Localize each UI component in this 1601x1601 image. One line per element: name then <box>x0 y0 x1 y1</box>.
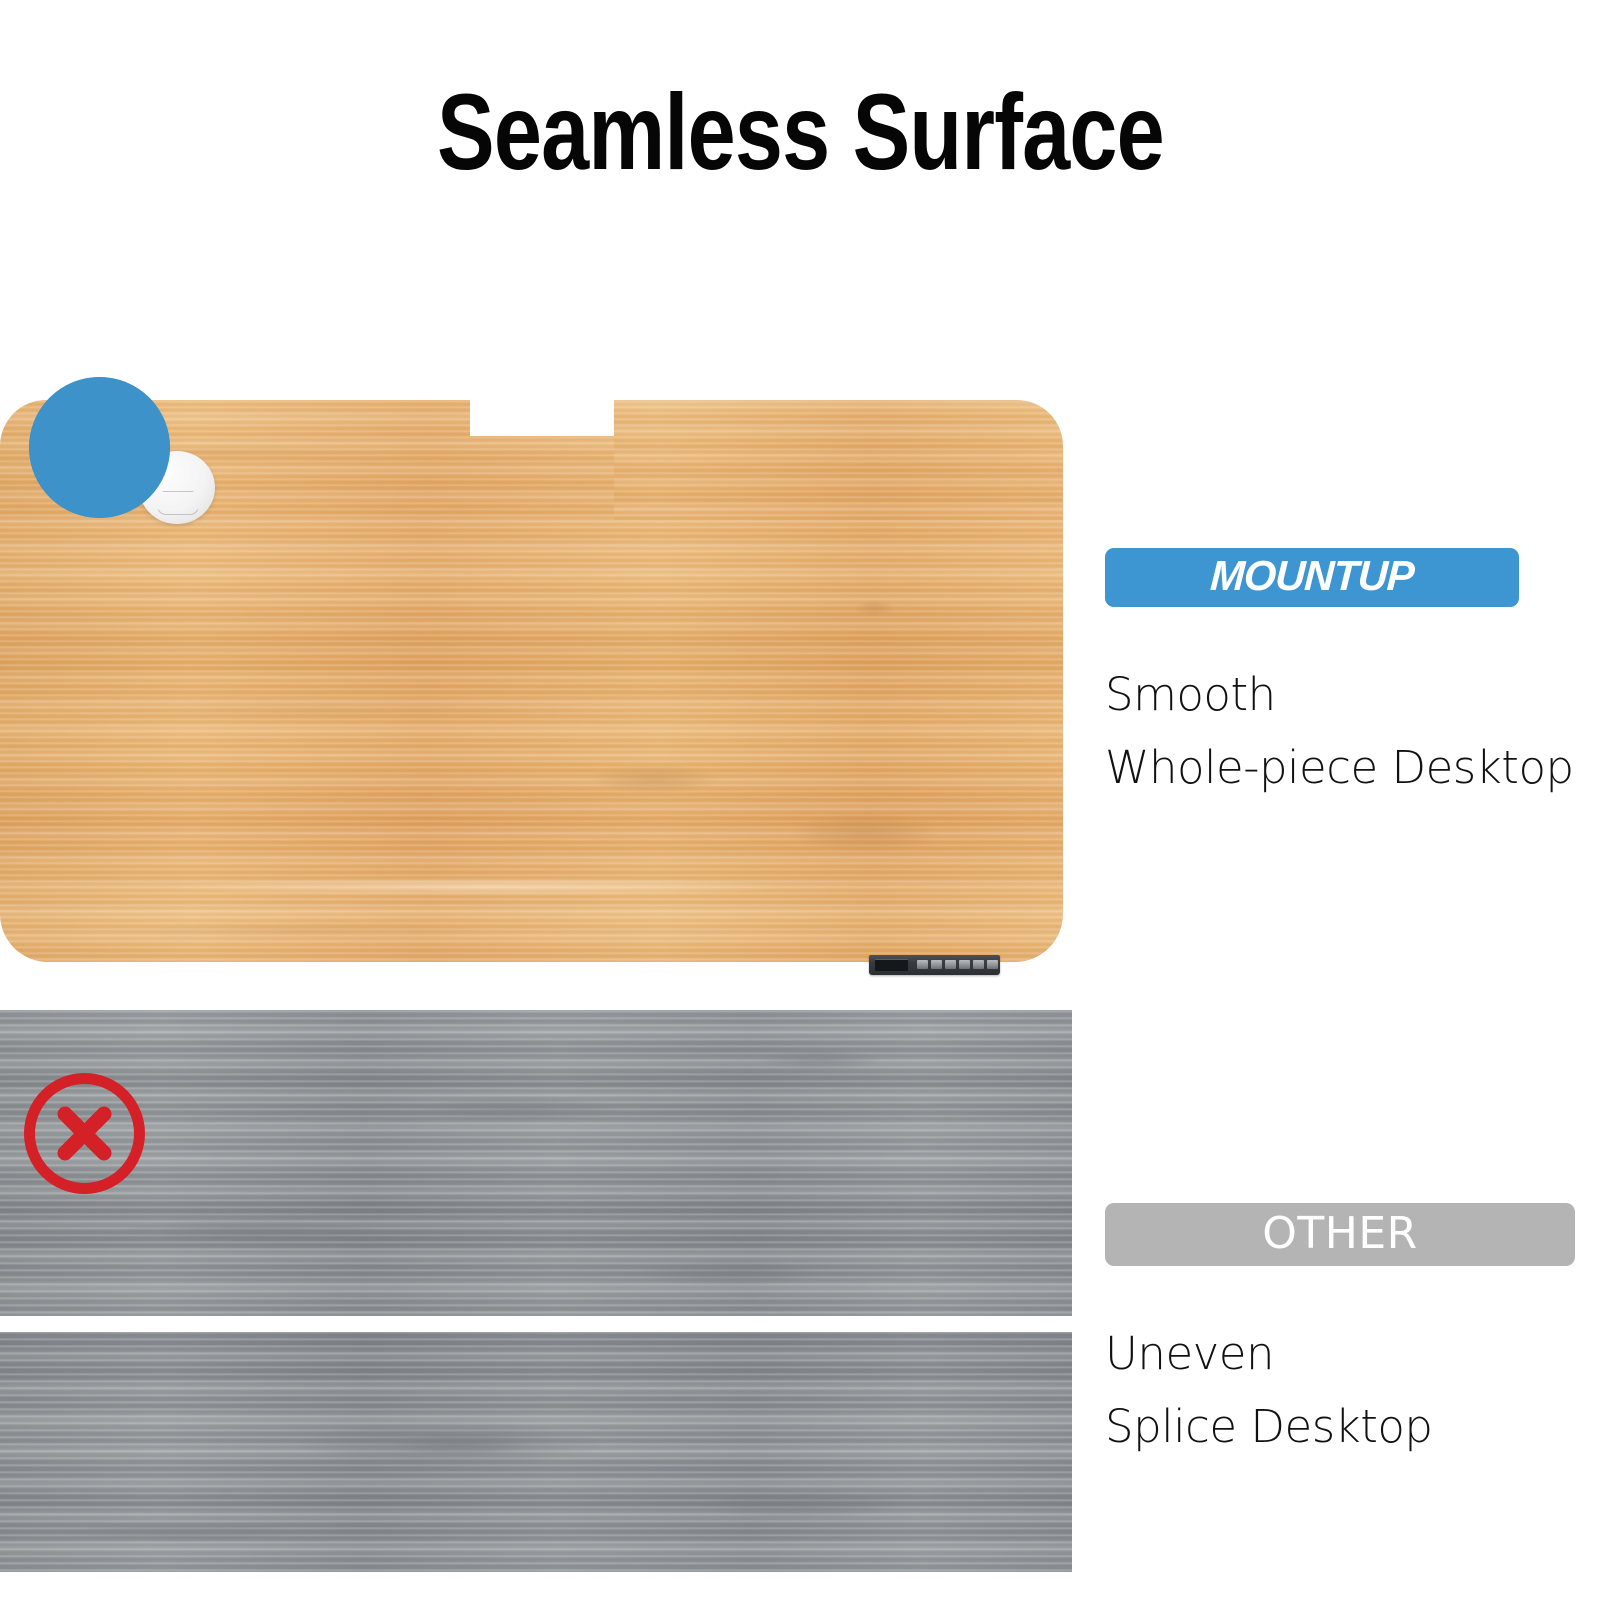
plank-upper <box>0 1010 1072 1316</box>
x-circle-icon <box>21 1070 148 1197</box>
desktop-notch-band <box>470 436 614 520</box>
page-title: Seamless Surface <box>160 78 1441 186</box>
check-circle-icon-svg <box>29 377 170 518</box>
check-circle-icon <box>29 377 170 518</box>
gray-wood-grain-texture <box>0 1332 1072 1572</box>
desktop-main-surface <box>0 520 1063 962</box>
good-caption-line-1: Smooth <box>1105 659 1575 732</box>
keypad-button-2[interactable] <box>931 960 942 969</box>
wood-grain-texture <box>614 400 1063 520</box>
plank-lower <box>0 1332 1072 1572</box>
brand-badge-other: OTHER <box>1105 1203 1575 1266</box>
wood-grain-texture <box>0 520 1063 962</box>
keypad-display <box>875 959 908 971</box>
good-caption-line-2: Whole-piece Desktop <box>1105 732 1575 805</box>
desk-control-keypad[interactable] <box>869 955 1000 975</box>
keypad-button-6[interactable] <box>987 960 998 969</box>
other-label: OTHER <box>1105 1212 1575 1256</box>
gray-spliced-planks-photo <box>0 1010 1072 1572</box>
desktop-top-right-segment <box>614 400 1063 520</box>
mountup-logo-text: MOUNTUP <box>1106 555 1518 597</box>
wood-grain-texture <box>470 436 614 520</box>
x-circle-icon-svg <box>21 1070 148 1197</box>
infographic-page: Seamless Surface <box>0 0 1601 1601</box>
keypad-button-5[interactable] <box>973 960 984 969</box>
bad-caption: Uneven Splice Desktop <box>1105 1318 1575 1464</box>
keypad-button-4[interactable] <box>959 960 970 969</box>
bad-caption-line-2: Splice Desktop <box>1105 1391 1575 1464</box>
bad-caption-line-1: Uneven <box>1105 1318 1575 1391</box>
gray-wood-grain-texture <box>0 1010 1072 1316</box>
good-caption: Smooth Whole-piece Desktop <box>1105 659 1575 805</box>
brand-badge-mountup: MOUNTUP <box>1105 548 1519 607</box>
keypad-button-3[interactable] <box>945 960 956 969</box>
keypad-button-1[interactable] <box>917 960 928 969</box>
